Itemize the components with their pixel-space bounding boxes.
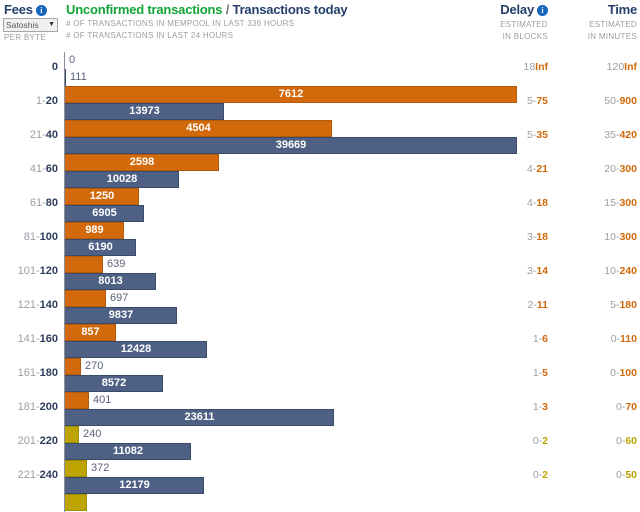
time-value: 35-420 bbox=[555, 129, 637, 141]
fee-range-label: 81-100 bbox=[0, 231, 58, 243]
fee-unit-select-value: Satoshis bbox=[6, 19, 39, 31]
bar-value-today: 12179 bbox=[65, 477, 204, 494]
bar-group: 6979837 bbox=[65, 290, 525, 324]
delay-value: 18Inf bbox=[468, 61, 548, 73]
time-value: 20-300 bbox=[555, 163, 637, 175]
bar-group: 12506905 bbox=[65, 188, 525, 222]
chart-row[interactable]: 41-602598100284-2120-300 bbox=[0, 154, 640, 188]
chart-row[interactable]: 81-10098961903-1810-300 bbox=[0, 222, 640, 256]
delay-value: 0-2 bbox=[468, 469, 548, 481]
bar-group: 24011082 bbox=[65, 426, 525, 460]
fee-unit-select[interactable]: Satoshis ▼ bbox=[3, 18, 58, 32]
fee-range-label: 141-160 bbox=[0, 333, 58, 345]
bar-unconfirmed-transactions[interactable] bbox=[65, 392, 89, 409]
bar-value-unconfirmed: 1250 bbox=[65, 188, 139, 205]
bar-unconfirmed-transactions[interactable] bbox=[65, 290, 106, 307]
bar-value-unconfirmed: 2598 bbox=[65, 154, 219, 171]
bar-unconfirmed-transactions[interactable] bbox=[65, 256, 103, 273]
time-value: 120Inf bbox=[555, 61, 637, 73]
fee-range-label: 21-40 bbox=[0, 129, 58, 141]
fees-unit-label: PER BYTE bbox=[4, 33, 46, 42]
fee-range-label: 101-120 bbox=[0, 265, 58, 277]
legend-transactions-today: Transactions today bbox=[233, 2, 348, 17]
bar-transactions-today[interactable] bbox=[65, 69, 66, 86]
chart-row[interactable]: 141-160857124281-60-110 bbox=[0, 324, 640, 358]
fee-range-label: 41-60 bbox=[0, 163, 58, 175]
fee-range-label: 0 bbox=[0, 61, 58, 73]
bar-value-today: 23611 bbox=[65, 409, 334, 426]
time-value: 0-110 bbox=[555, 333, 637, 345]
fee-range-label: 181-200 bbox=[0, 401, 58, 413]
time-value: 0-100 bbox=[555, 367, 637, 379]
main-subtitle-today: # OF TRANSACTIONS IN LAST 24 HOURS bbox=[66, 31, 233, 40]
time-value: 10-240 bbox=[555, 265, 637, 277]
fee-bar-chart: 0011118Inf120Inf1-207612139735-7550-9002… bbox=[0, 52, 640, 512]
delay-value: 5-75 bbox=[468, 95, 548, 107]
bar-value-today: 9837 bbox=[65, 307, 177, 324]
delay-subtitle-1: ESTIMATED bbox=[500, 20, 548, 29]
time-value: 5-180 bbox=[555, 299, 637, 311]
bar-unconfirmed-transactions[interactable] bbox=[65, 426, 79, 443]
chart-row[interactable]: 221-240372121790-20-50 bbox=[0, 460, 640, 494]
time-title: Time bbox=[608, 2, 637, 17]
bar-value-today: 8013 bbox=[65, 273, 156, 290]
delay-value: 4-21 bbox=[468, 163, 548, 175]
bar-group: 259810028 bbox=[65, 154, 525, 188]
chart-row-clipped bbox=[0, 494, 640, 512]
time-value: 10-300 bbox=[555, 231, 637, 243]
bar-value-today: 12428 bbox=[65, 341, 207, 358]
delay-subtitle-2: IN BLOCKS bbox=[503, 32, 548, 41]
delay-value: 5-35 bbox=[468, 129, 548, 141]
time-value: 0-60 bbox=[555, 435, 637, 447]
delay-value: 3-18 bbox=[468, 231, 548, 243]
fee-range-label: 121-140 bbox=[0, 299, 58, 311]
bar-group: 85712428 bbox=[65, 324, 525, 358]
bar-group bbox=[65, 494, 525, 512]
bar-group: 37212179 bbox=[65, 460, 525, 494]
fee-range-label: 1-20 bbox=[0, 95, 58, 107]
fee-range-label: 221-240 bbox=[0, 469, 58, 481]
chart-row[interactable]: 1-207612139735-7550-900 bbox=[0, 86, 640, 120]
bar-value-today: 13973 bbox=[65, 103, 224, 120]
delay-value: 1-5 bbox=[468, 367, 548, 379]
bar-unconfirmed-transactions[interactable] bbox=[65, 460, 87, 477]
bar-value-unconfirmed: 0 bbox=[69, 52, 75, 69]
delay-column-header: Delayi ESTIMATED IN BLOCKS bbox=[468, 1, 548, 19]
delay-value: 1-6 bbox=[468, 333, 548, 345]
chart-row[interactable]: 201-220240110820-20-60 bbox=[0, 426, 640, 460]
bar-value-unconfirmed: 989 bbox=[65, 222, 124, 239]
bar-value-today: 10028 bbox=[65, 171, 179, 188]
chart-row[interactable]: 181-200401236111-30-70 bbox=[0, 392, 640, 426]
bar-value-today: 39669 bbox=[65, 137, 517, 154]
bar-value-today: 6190 bbox=[65, 239, 136, 256]
time-value: 0-50 bbox=[555, 469, 637, 481]
chevron-down-icon: ▼ bbox=[48, 19, 55, 31]
bar-value-unconfirmed: 639 bbox=[107, 256, 125, 273]
delay-value: 2-11 bbox=[468, 299, 548, 311]
bar-value-today: 6905 bbox=[65, 205, 144, 222]
fee-range-label: 161-180 bbox=[0, 367, 58, 379]
time-value: 50-900 bbox=[555, 95, 637, 107]
bar-value-unconfirmed: 7612 bbox=[65, 86, 517, 103]
bar-value-unconfirmed: 4504 bbox=[65, 120, 332, 137]
delay-value: 3-14 bbox=[468, 265, 548, 277]
time-value: 0-70 bbox=[555, 401, 637, 413]
bar-group: 0111 bbox=[65, 52, 525, 86]
bar-group: 6398013 bbox=[65, 256, 525, 290]
bar-unconfirmed-transactions[interactable] bbox=[65, 358, 81, 375]
bar-value-today: 11082 bbox=[65, 443, 191, 460]
title-separator: / bbox=[222, 2, 232, 17]
bar-group: 2708572 bbox=[65, 358, 525, 392]
chart-row[interactable]: 121-14069798372-115-180 bbox=[0, 290, 640, 324]
fees-title: Fees bbox=[4, 2, 33, 17]
bar-value-unconfirmed: 372 bbox=[91, 460, 109, 477]
time-value: 15-300 bbox=[555, 197, 637, 209]
delay-value: 0-2 bbox=[468, 435, 548, 447]
bar-value-today: 8572 bbox=[65, 375, 163, 392]
chart-row[interactable]: 21-404504396695-3535-420 bbox=[0, 120, 640, 154]
time-column-header: Time ESTIMATED IN MINUTES bbox=[555, 1, 637, 19]
fee-distribution-widget: Feesi Satoshis ▼ PER BYTE Unconfirmed tr… bbox=[0, 0, 640, 512]
bar-group: 9896190 bbox=[65, 222, 525, 256]
bar-value-unconfirmed: 270 bbox=[85, 358, 103, 375]
time-subtitle-2: IN MINUTES bbox=[588, 32, 637, 41]
bar-value-unconfirmed: 857 bbox=[65, 324, 116, 341]
delay-value: 4-18 bbox=[468, 197, 548, 209]
delay-info-icon[interactable]: i bbox=[537, 5, 548, 16]
bar-group: 40123611 bbox=[65, 392, 525, 426]
chart-row[interactable]: 101-12063980133-1410-240 bbox=[0, 256, 640, 290]
legend-unconfirmed-transactions: Unconfirmed transactions bbox=[66, 2, 222, 17]
chart-row[interactable]: 61-80125069054-1815-300 bbox=[0, 188, 640, 222]
fee-range-label: 61-80 bbox=[0, 197, 58, 209]
main-subtitle-mempool: # OF TRANSACTIONS IN MEMPOOL IN LAST 336… bbox=[66, 19, 294, 28]
bar-group: 450439669 bbox=[65, 120, 525, 154]
main-column-header: Unconfirmed transactions / Transactions … bbox=[66, 1, 347, 19]
delay-title: Delay bbox=[500, 2, 534, 17]
fee-range-label: 201-220 bbox=[0, 435, 58, 447]
chart-row[interactable]: 161-18027085721-50-100 bbox=[0, 358, 640, 392]
bar-value-unconfirmed: 401 bbox=[93, 392, 111, 409]
fees-column-header: Feesi bbox=[4, 1, 64, 19]
bar-unconfirmed-transactions bbox=[65, 494, 87, 511]
bar-group: 761213973 bbox=[65, 86, 525, 120]
widget-header: Feesi Satoshis ▼ PER BYTE Unconfirmed tr… bbox=[0, 0, 640, 52]
fees-info-icon[interactable]: i bbox=[36, 5, 47, 16]
chart-row[interactable]: 0011118Inf120Inf bbox=[0, 52, 640, 86]
bar-value-unconfirmed: 240 bbox=[83, 426, 101, 443]
bar-value-today: 111 bbox=[70, 69, 87, 86]
time-subtitle-1: ESTIMATED bbox=[589, 20, 637, 29]
delay-value: 1-3 bbox=[468, 401, 548, 413]
bar-value-unconfirmed: 697 bbox=[110, 290, 128, 307]
